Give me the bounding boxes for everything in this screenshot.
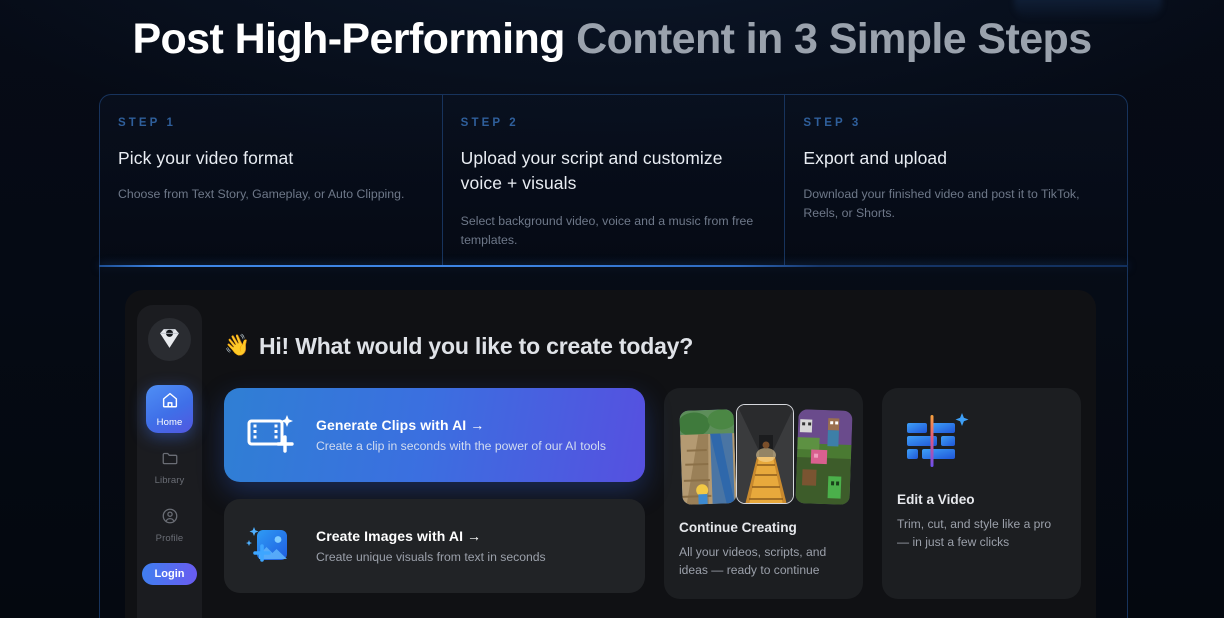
sidebar-item-library[interactable]: Library bbox=[146, 443, 193, 491]
create-images-text: Create Images with AI → Create unique vi… bbox=[316, 528, 546, 564]
step-description: Choose from Text Story, Gameplay, or Aut… bbox=[118, 185, 422, 204]
generate-clips-text: Generate Clips with AI → Create a clip i… bbox=[316, 417, 606, 453]
step-title: Pick your video format bbox=[118, 146, 422, 171]
sidebar-item-home[interactable]: Home bbox=[146, 385, 193, 433]
page-title-strong: Post High-Performing bbox=[132, 15, 564, 63]
video-thumbnails-stack bbox=[679, 404, 848, 506]
steps-container: STEP 1 Pick your video format Choose fro… bbox=[99, 94, 1128, 266]
card-title: Create Images with AI → bbox=[316, 528, 546, 544]
card-title: Edit a Video bbox=[897, 492, 1066, 507]
thumbnail-minecraft bbox=[795, 409, 852, 505]
sidebar-nav: Home Library Profile bbox=[137, 385, 202, 549]
app-sidebar: Home Library Profile bbox=[137, 305, 202, 618]
create-images-card[interactable]: Create Images with AI → Create unique vi… bbox=[224, 499, 645, 593]
sidebar-item-label: Profile bbox=[156, 533, 184, 544]
card-title: Generate Clips with AI → bbox=[316, 417, 606, 433]
thumbnail-subway bbox=[679, 409, 736, 505]
step-card-3: STEP 3 Export and upload Download your f… bbox=[784, 95, 1127, 266]
generate-clips-card[interactable]: Generate Clips with AI → Create a clip i… bbox=[224, 388, 645, 482]
page-title: Post High-Performing Content in 3 Simple… bbox=[0, 12, 1224, 66]
sidebar-item-label: Home bbox=[157, 417, 183, 428]
content-row: Generate Clips with AI → Create a clip i… bbox=[224, 388, 1096, 599]
sidebar-item-label: Library bbox=[155, 475, 185, 486]
step-card-2: STEP 2 Upload your script and customize … bbox=[442, 95, 785, 266]
card-subtitle: Create unique visuals from text in secon… bbox=[316, 550, 546, 564]
app-logo[interactable] bbox=[148, 318, 191, 361]
login-button[interactable]: Login bbox=[142, 563, 198, 585]
step-kicker: STEP 1 bbox=[118, 117, 422, 129]
step-kicker: STEP 2 bbox=[461, 117, 765, 129]
image-sparkle-icon bbox=[244, 521, 300, 571]
user-circle-icon bbox=[161, 507, 179, 530]
card-subtitle: Create a clip in seconds with the power … bbox=[316, 439, 606, 453]
diamond-gem-icon bbox=[157, 325, 182, 355]
thumbnail-tunnel bbox=[736, 404, 794, 504]
card-subtitle: All your videos, scripts, and ideas — re… bbox=[679, 543, 848, 579]
step-card-1: STEP 1 Pick your video format Choose fro… bbox=[100, 95, 442, 266]
greeting-heading: 👋 Hi! What would you like to create toda… bbox=[224, 326, 1096, 366]
page-title-muted: Content in 3 Simple Steps bbox=[565, 15, 1092, 63]
film-strip-sparkle-icon bbox=[244, 410, 300, 460]
step-title: Export and upload bbox=[803, 146, 1107, 171]
action-cards-column: Generate Clips with AI → Create a clip i… bbox=[224, 388, 645, 593]
waving-hand-icon: 👋 bbox=[224, 334, 250, 358]
landing-page: Post High-Performing Content in 3 Simple… bbox=[0, 0, 1224, 618]
sidebar-item-profile[interactable]: Profile bbox=[146, 501, 193, 549]
step-title: Upload your script and customize voice +… bbox=[461, 146, 765, 196]
timeline-editor-sparkle-icon bbox=[897, 404, 1066, 478]
app-main: 👋 Hi! What would you like to create toda… bbox=[224, 326, 1096, 599]
card-title: Continue Creating bbox=[679, 520, 848, 535]
home-icon bbox=[161, 391, 179, 414]
step-description: Select background video, voice and a mus… bbox=[461, 212, 765, 250]
edit-video-card[interactable]: Edit a Video Trim, cut, and style like a… bbox=[882, 388, 1081, 599]
step-kicker: STEP 3 bbox=[803, 117, 1107, 129]
greeting-text: Hi! What would you like to create today? bbox=[259, 333, 693, 360]
continue-creating-card[interactable]: Continue Creating All your videos, scrip… bbox=[664, 388, 863, 599]
step-description: Download your finished video and post it… bbox=[803, 185, 1107, 223]
card-subtitle: Trim, cut, and style like a pro — in jus… bbox=[897, 515, 1066, 551]
folder-icon bbox=[161, 449, 179, 472]
